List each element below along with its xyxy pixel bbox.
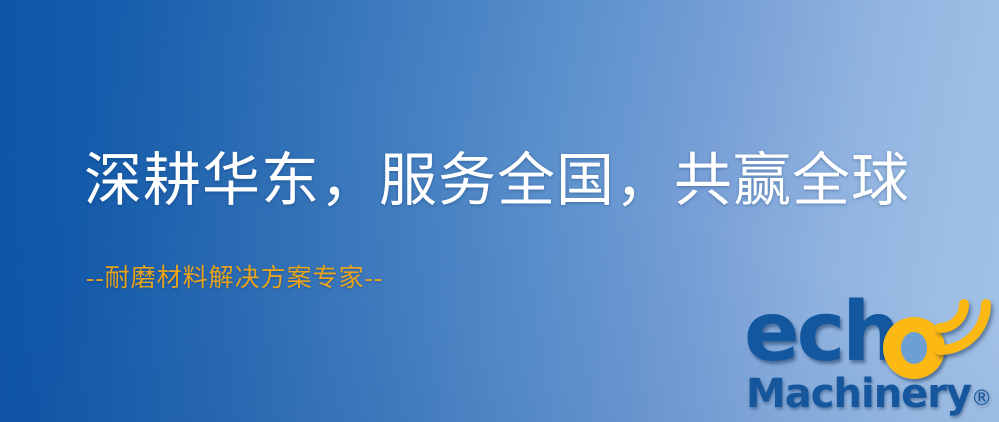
echo-machinery-logo[interactable]: ech Machinery® <box>744 296 999 422</box>
logo-wordmark: ech <box>744 296 949 380</box>
banner-headline: 深耕华东，服务全国，共赢全球 <box>84 152 910 210</box>
logo-tagline: Machinery® <box>746 374 992 414</box>
promo-banner: 深耕华东，服务全国，共赢全球 --耐磨材料解决方案专家-- ech Machin… <box>0 0 999 422</box>
signal-waves-icon <box>930 294 996 360</box>
registered-trademark-icon: ® <box>971 386 992 410</box>
logo-tagline-text: Machinery <box>746 371 971 417</box>
logo-o-counter <box>901 332 927 364</box>
logo-brand-text: ech <box>744 292 898 374</box>
banner-subheadline: --耐磨材料解决方案专家-- <box>86 266 383 291</box>
